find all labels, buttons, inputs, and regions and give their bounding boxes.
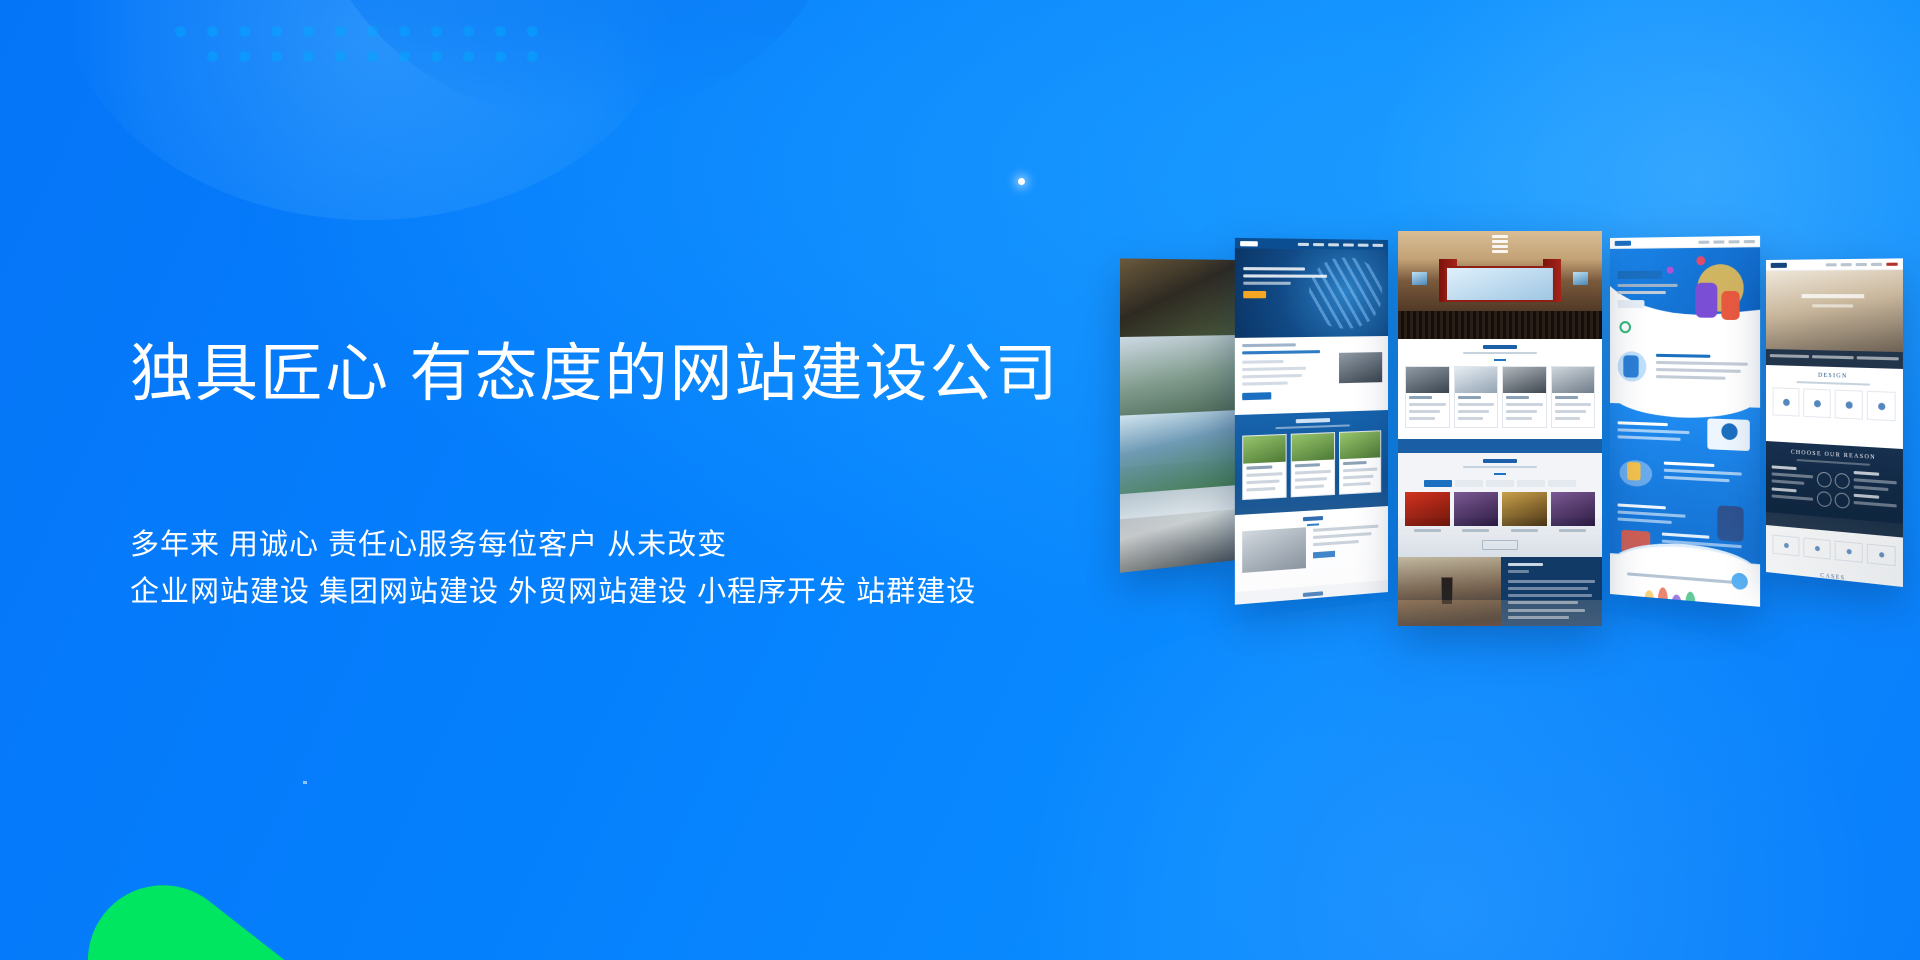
dot-row [175,26,538,37]
panel-reflection [1235,442,1388,605]
showcase-panel-theatre-featured[interactable] [1398,231,1602,626]
showcase-panel-dna-corporate[interactable] [1235,238,1388,605]
hero-banner: 独具匠心 有态度的网站建设公司 多年来 用诚心 责任心服务每位客户 从未改变 企… [0,0,1920,960]
speck-decoration [303,781,307,784]
hero-subline-2: 企业网站建设 集团网站建设 外贸网站建设 小程序开发 站群建设 [130,569,1130,616]
sparkle-icon [1018,178,1025,185]
website-showcase-cluster: DESIGN CHOOSE OUR REASON [1130,240,1920,760]
dot-pattern-decoration [175,26,538,76]
showcase-panel-aerial-stack[interactable] [1120,258,1238,572]
showcase-panel-design-studio[interactable]: DESIGN CHOOSE OUR REASON [1766,258,1903,587]
hero-subline-1: 多年来 用诚心 责任心服务每位客户 从未改变 [130,522,1130,569]
panel-reflection [1120,410,1238,573]
hero-headline: 独具匠心 有态度的网站建设公司 [130,335,1130,414]
dot-row [207,51,538,62]
green-accent-shape [58,855,481,960]
panel-reflection [1766,422,1903,587]
showcase-panel-english-education[interactable] [1610,236,1760,607]
mock-hero-auditorium [1398,231,1602,339]
hero-copy: 独具匠心 有态度的网站建设公司 多年来 用诚心 责任心服务每位客户 从未改变 企… [130,335,1130,616]
design-heading: DESIGN [1773,371,1896,381]
hero-subcopy: 多年来 用诚心 责任心服务每位客户 从未改变 企业网站建设 集团网站建设 外贸网… [130,522,1130,616]
panel-reflection [1398,476,1602,626]
mock-hero-dna [1235,248,1388,338]
mock-hero-illustration [1610,247,1760,347]
panel-reflection [1610,444,1760,607]
